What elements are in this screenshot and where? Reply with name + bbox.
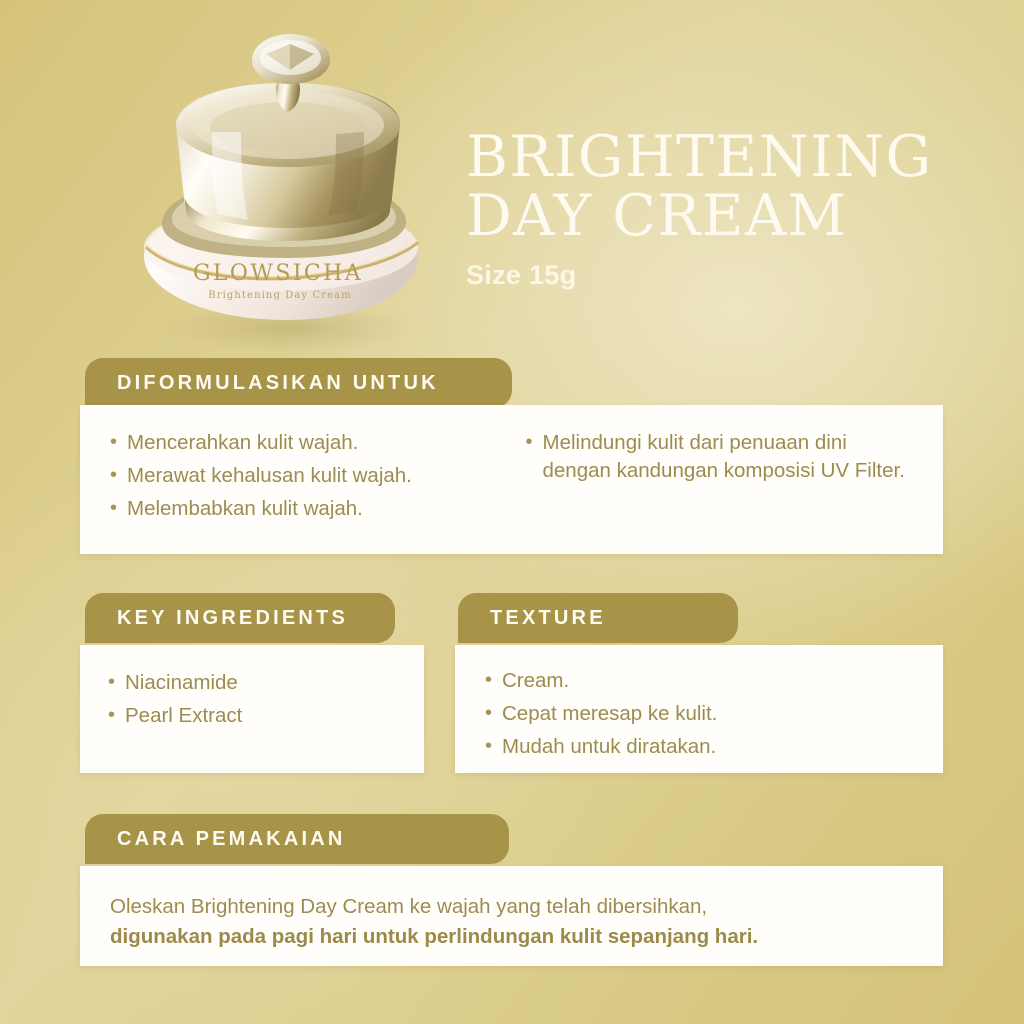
- formulated-right-list: Melindungi kulit dari penuaan dini denga…: [526, 429, 914, 485]
- list-item: Pearl Extract: [108, 702, 424, 730]
- list-item: Melindungi kulit dari penuaan dini denga…: [526, 429, 914, 485]
- section-header-texture: TEXTURE: [458, 593, 738, 643]
- list-item: Mencerahkan kulit wajah.: [110, 429, 498, 457]
- list-item: Mudah untuk diratakan.: [485, 733, 943, 761]
- formulated-left-column: Mencerahkan kulit wajah. Merawat kehalus…: [110, 429, 498, 528]
- usage-line-2: digunakan pada pagi hari untuk perlindun…: [110, 922, 943, 952]
- product-title-block: BRIGHTENING DAY CREAM Size 15g: [466, 128, 966, 291]
- infographic-page: GLOWSICHA Brightening Day Cream BRIGHTEN…: [0, 0, 1024, 1024]
- formulated-left-list: Mencerahkan kulit wajah. Merawat kehalus…: [110, 429, 498, 523]
- section-header-ingredients: KEY INGREDIENTS: [85, 593, 395, 643]
- section-card-ingredients: Niacinamide Pearl Extract: [80, 645, 424, 773]
- section-header-formulated: DIFORMULASIKAN UNTUK: [85, 358, 512, 408]
- list-item: Cream.: [485, 667, 943, 695]
- usage-line-1: Oleskan Brightening Day Cream ke wajah y…: [110, 892, 943, 922]
- product-title-line2: DAY CREAM: [466, 187, 966, 246]
- list-item: Niacinamide: [108, 669, 424, 697]
- list-item: Melembabkan kulit wajah.: [110, 495, 498, 523]
- section-card-texture: Cream. Cepat meresap ke kulit. Mudah unt…: [455, 645, 943, 773]
- list-item: Cepat meresap ke kulit.: [485, 700, 943, 728]
- ingredients-list: Niacinamide Pearl Extract: [108, 669, 424, 730]
- product-size: Size 15g: [466, 260, 966, 291]
- list-item: Merawat kehalusan kulit wajah.: [110, 462, 498, 490]
- jar-brand-text: GLOWSICHA: [193, 261, 363, 286]
- texture-list: Cream. Cepat meresap ke kulit. Mudah unt…: [485, 667, 943, 761]
- section-card-formulated: Mencerahkan kulit wajah. Merawat kehalus…: [80, 405, 943, 554]
- section-card-usage: Oleskan Brightening Day Cream ke wajah y…: [80, 866, 943, 966]
- product-image: GLOWSICHA Brightening Day Cream: [100, 28, 460, 358]
- product-title-line1: BRIGHTENING: [466, 128, 966, 187]
- formulated-right-column: Melindungi kulit dari penuaan dini denga…: [526, 429, 914, 528]
- section-header-usage: CARA PEMAKAIAN: [85, 814, 509, 864]
- jar-subtitle-text: Brightening Day Cream: [208, 290, 351, 301]
